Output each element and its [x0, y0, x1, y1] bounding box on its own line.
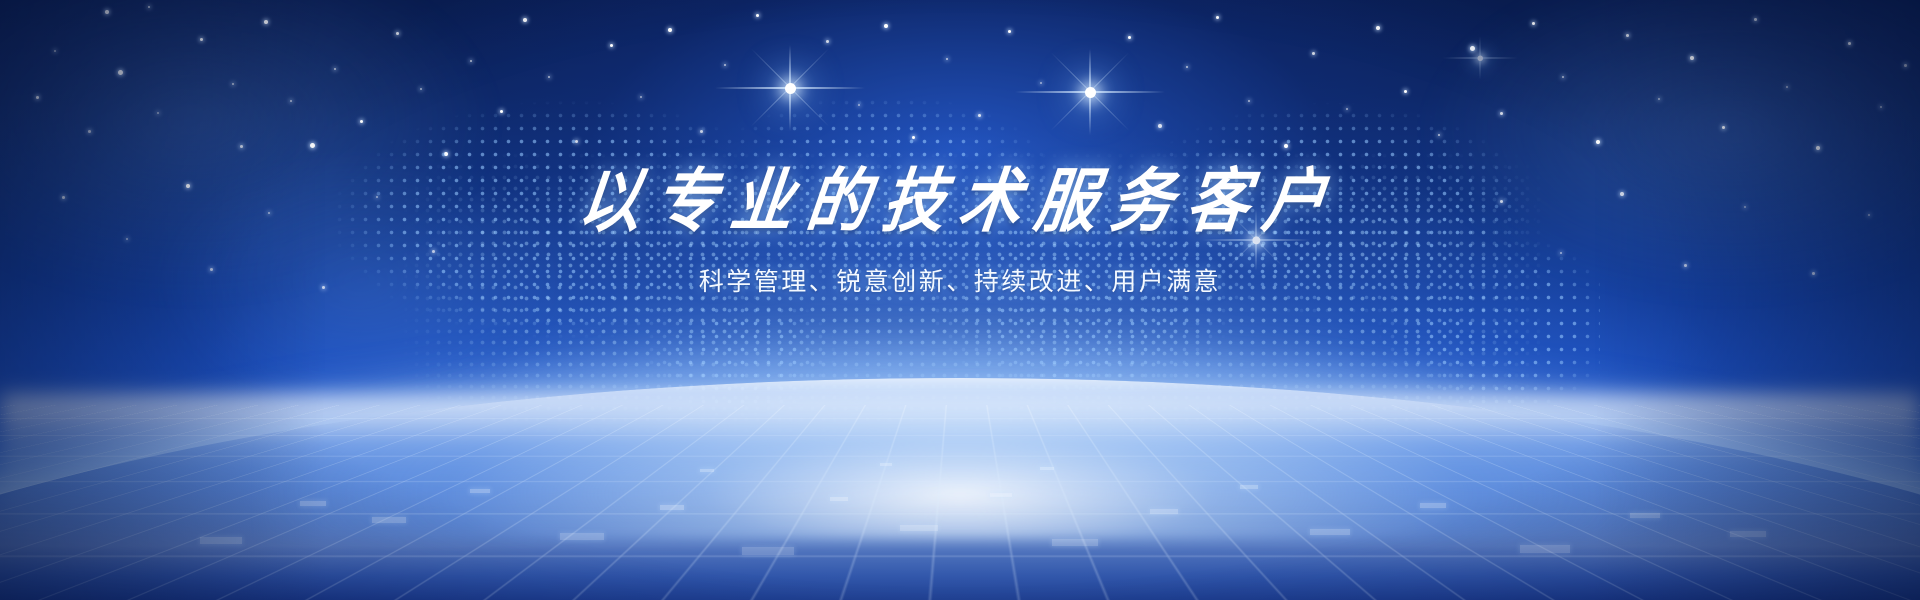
nebula-haze-left	[0, 0, 500, 300]
dotted-map-band-icon	[400, 150, 1550, 440]
hero-banner: 以专业的技术服务客户 科学管理、锐意创新、持续改进、用户满意	[0, 0, 1920, 600]
vignette-overlay	[0, 0, 1920, 600]
horizon-haze	[0, 395, 1920, 525]
banner-headline: 以专业的技术服务客户	[574, 145, 1346, 246]
dotted-world-map-icon	[320, 70, 1600, 430]
nebula-haze-right	[1420, 0, 1920, 300]
banner-text-block: 以专业的技术服务客户 科学管理、锐意创新、持续改进、用户满意	[0, 0, 1920, 600]
starfield	[0, 0, 1920, 600]
horizon-glow-icon	[260, 330, 1660, 540]
nebula-haze-midleft	[150, 150, 570, 410]
banner-subtitle: 科学管理、锐意创新、持续改进、用户满意	[699, 262, 1222, 298]
digital-city-grid-icon	[0, 405, 1920, 600]
earth-curvature-icon	[0, 378, 1920, 600]
